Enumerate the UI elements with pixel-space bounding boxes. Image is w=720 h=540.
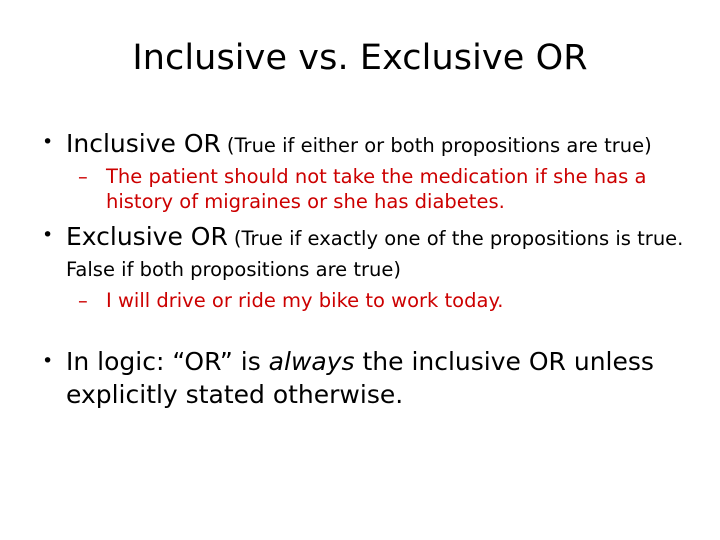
- sub-bullet-bike-example: –I will drive or ride my bike to work to…: [36, 289, 684, 314]
- sub-bullet-medication-example: –The patient should not take the medicat…: [36, 165, 684, 215]
- bullet-dot-icon: •: [42, 221, 53, 250]
- bullet-inclusive-or-lead: Inclusive OR: [66, 129, 221, 158]
- bullet-dash-icon: –: [78, 165, 88, 190]
- sub-bullet-bike-example-text: I will drive or ride my bike to work tod…: [106, 289, 503, 312]
- bullet-in-logic-emphasis: always: [269, 347, 355, 376]
- slide: Inclusive vs. Exclusive OR •Inclusive OR…: [0, 0, 720, 540]
- bullet-in-logic-before: In logic: “OR” is: [66, 347, 269, 376]
- bullet-dot-icon: •: [42, 346, 53, 376]
- bullet-in-logic: •In logic: “OR” is always the inclusive …: [36, 346, 684, 411]
- bullet-inclusive-or-paren: (True if either or both propositions are…: [227, 134, 652, 157]
- slide-body: •Inclusive OR(True if either or both pro…: [36, 128, 684, 417]
- bullet-exclusive-or: •Exclusive OR(True if exactly one of the…: [36, 221, 684, 283]
- sub-bullet-medication-example-text: The patient should not take the medicati…: [106, 165, 646, 213]
- blank-line-spacer: [36, 319, 684, 346]
- bullet-exclusive-or-lead: Exclusive OR: [66, 222, 228, 251]
- bullet-dash-icon: –: [78, 289, 88, 314]
- bullet-inclusive-or: •Inclusive OR(True if either or both pro…: [36, 128, 684, 159]
- page-title: Inclusive vs. Exclusive OR: [40, 38, 680, 78]
- bullet-dot-icon: •: [42, 128, 53, 157]
